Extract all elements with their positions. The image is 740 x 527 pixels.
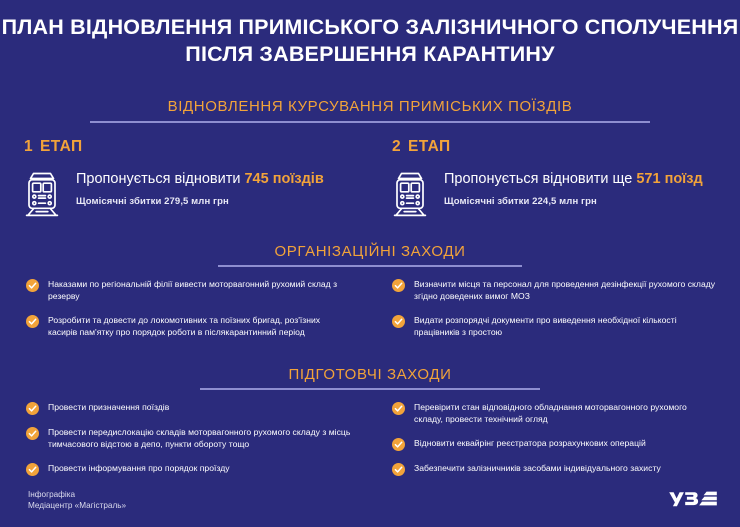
check-icon — [26, 402, 39, 415]
section-heading-preparatory-label: ПІДГОТОВЧІ ЗАХОДИ — [0, 366, 740, 383]
footer-credit-line-1: Інфографіка — [28, 489, 126, 500]
train-icon — [22, 171, 62, 217]
stage-1-main-line: Пропонується відновити 745 поїздів — [76, 171, 324, 188]
stage-2-main-prefix: Пропонується відновити ще — [444, 171, 632, 187]
stage-2-word: ЕТАП — [408, 138, 451, 155]
check-icon — [392, 438, 405, 451]
check-icon — [26, 315, 39, 328]
stage-2-text: Пропонується відновити ще 571 поїзд Щомі… — [444, 169, 703, 207]
list-item: Відновити еквайрінг реєстратора розрахун… — [392, 437, 717, 451]
list-item: Провести передислокацію складів моторваг… — [26, 426, 351, 451]
list-item-label: Відновити еквайрінг реєстратора розрахун… — [414, 437, 646, 449]
list-item: Видати розпорядчі документи про виведенн… — [392, 314, 717, 339]
infographic-page: ПЛАН ВІДНОВЛЕННЯ ПРИМІСЬКОГО ЗАЛІЗНИЧНОГ… — [0, 0, 740, 527]
section-divider-organizational — [218, 265, 522, 267]
stage-2-title: 2ЕТАП — [392, 138, 703, 156]
list-item-label: Видати розпорядчі документи про виведенн… — [414, 314, 717, 339]
list-item-label: Забезпечити залізничників засобами індив… — [414, 462, 661, 474]
stage-block-2: 2ЕТАП — [390, 138, 703, 217]
list-item-label: Визначити місця та персонал для проведен… — [414, 278, 717, 303]
section-heading-preparatory: ПІДГОТОВЧІ ЗАХОДИ — [0, 366, 740, 383]
list-item: Забезпечити залізничників засобами індив… — [392, 462, 717, 476]
organizational-measures-right-column: Визначити місця та персонал для проведен… — [392, 278, 717, 339]
page-title: ПЛАН ВІДНОВЛЕННЯ ПРИМІСЬКОГО ЗАЛІЗНИЧНОГ… — [0, 14, 740, 67]
section-divider-trains — [90, 121, 650, 123]
train-icon — [390, 171, 430, 217]
list-item-label: Розробити та довести до локомотивних та … — [48, 314, 351, 339]
stage-1-title: 1ЕТАП — [24, 138, 324, 156]
stage-1-losses: Щомісячні збитки 279,5 млн грн — [76, 196, 324, 207]
check-icon — [392, 315, 405, 328]
list-item: Визначити місця та персонал для проведен… — [392, 278, 717, 303]
footer-credit-line-2: Медіацентр «Магістраль» — [28, 500, 126, 511]
check-icon — [392, 279, 405, 292]
stage-2-train-count: 571 поїзд — [636, 171, 702, 187]
stage-1-body: Пропонується відновити 745 поїздів Щоміс… — [22, 169, 324, 217]
stage-block-1: 1ЕТАП — [22, 138, 324, 217]
list-item: Наказами по регіональній філії вивести м… — [26, 278, 351, 303]
list-item-label: Провести призначення поїздів — [48, 401, 169, 413]
section-heading-organizational-label: ОРГАНІЗАЦІЙНІ ЗАХОДИ — [0, 243, 740, 260]
section-heading-organizational: ОРГАНІЗАЦІЙНІ ЗАХОДИ — [0, 243, 740, 260]
list-item: Провести інформування про порядок проїзд… — [26, 462, 351, 476]
footer-credit: Інфографіка Медіацентр «Магістраль» — [28, 489, 126, 511]
section-divider-preparatory — [200, 388, 540, 390]
stage-1-train-count: 745 поїздів — [244, 171, 323, 187]
stage-1-main-prefix: Пропонується відновити — [76, 171, 240, 187]
check-icon — [26, 463, 39, 476]
stage-1-word: ЕТАП — [40, 138, 83, 155]
uz-logo — [668, 489, 718, 513]
check-icon — [392, 402, 405, 415]
page-title-line-1: ПЛАН ВІДНОВЛЕННЯ ПРИМІСЬКОГО ЗАЛІЗНИЧНОГ… — [0, 14, 740, 40]
stage-2-number: 2 — [392, 138, 401, 155]
page-title-line-2: ПІСЛЯ ЗАВЕРШЕННЯ КАРАНТИНУ — [0, 41, 740, 67]
section-heading-trains: ВІДНОВЛЕННЯ КУРСУВАННЯ ПРИМІСЬКИХ ПОЇЗДІ… — [0, 98, 740, 115]
preparatory-measures-left-column: Провести призначення поїздів Провести пе… — [26, 401, 351, 476]
list-item: Розробити та довести до локомотивних та … — [26, 314, 351, 339]
stage-2-losses: Щомісячні збитки 224,5 млн грн — [444, 196, 703, 207]
check-icon — [26, 427, 39, 440]
stage-1-number: 1 — [24, 138, 33, 155]
stage-2-body: Пропонується відновити ще 571 поїзд Щомі… — [390, 169, 703, 217]
list-item-label: Провести інформування про порядок проїзд… — [48, 462, 230, 474]
preparatory-measures-right-column: Перевірити стан відповідного обладнання … — [392, 401, 717, 476]
list-item-label: Провести передислокацію складів моторваг… — [48, 426, 351, 451]
list-item: Перевірити стан відповідного обладнання … — [392, 401, 717, 426]
list-item-label: Наказами по регіональній філії вивести м… — [48, 278, 351, 303]
stage-1-text: Пропонується відновити 745 поїздів Щоміс… — [76, 169, 324, 207]
list-item: Провести призначення поїздів — [26, 401, 351, 415]
section-heading-trains-label: ВІДНОВЛЕННЯ КУРСУВАННЯ ПРИМІСЬКИХ ПОЇЗДІ… — [0, 98, 740, 115]
list-item-label: Перевірити стан відповідного обладнання … — [414, 401, 717, 426]
check-icon — [392, 463, 405, 476]
stage-2-main-line: Пропонується відновити ще 571 поїзд — [444, 171, 703, 188]
check-icon — [26, 279, 39, 292]
organizational-measures-left-column: Наказами по регіональній філії вивести м… — [26, 278, 351, 339]
